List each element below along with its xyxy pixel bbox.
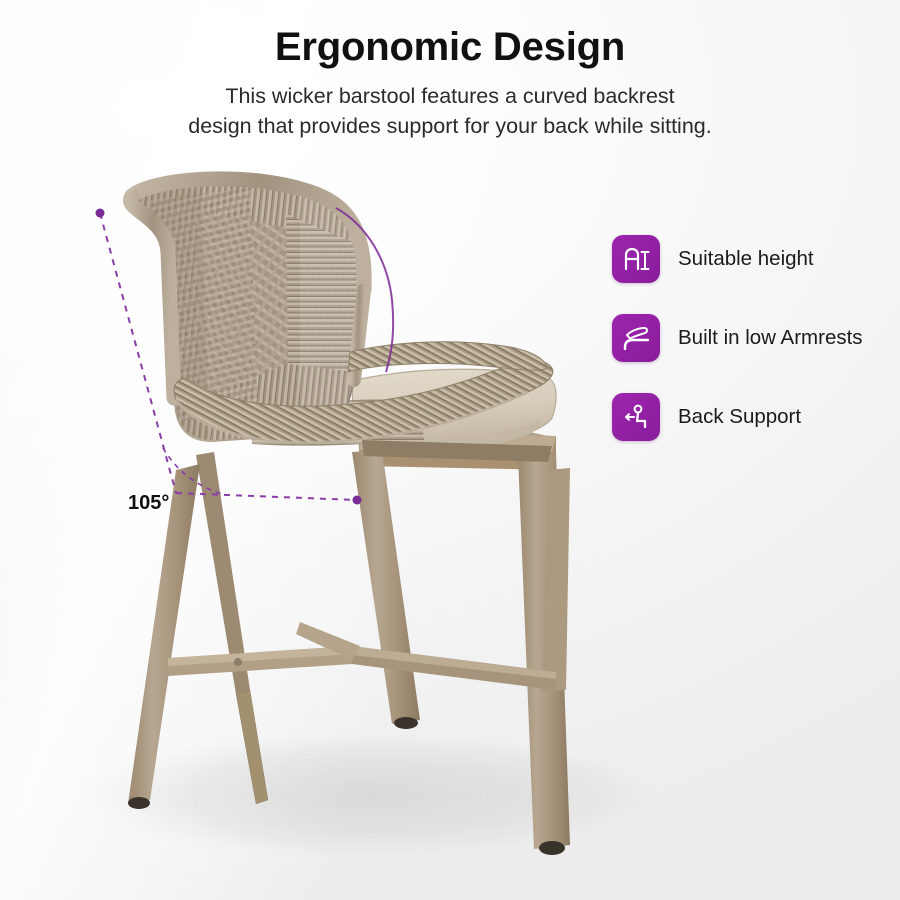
header: Ergonomic Design This wicker barstool fe… — [0, 0, 900, 141]
product-infographic-page: Ergonomic Design This wicker barstool fe… — [0, 0, 900, 900]
feature-label: Built in low Armrests — [678, 328, 863, 349]
feature-label: Back Support — [678, 407, 801, 428]
page-title: Ergonomic Design — [0, 0, 900, 69]
seated-person-back-support-icon — [612, 393, 660, 441]
subtitle-line-2: design that provides support for your ba… — [188, 114, 711, 138]
angle-label: 105° — [128, 492, 169, 515]
feature-item-back-support[interactable]: Back Support — [612, 389, 900, 445]
feature-item-built-in-low-armrests[interactable]: Built in low Armrests — [612, 310, 900, 366]
page-subtitle: This wicker barstool features a curved b… — [0, 69, 900, 141]
feature-item-suitable-height[interactable]: Suitable height — [612, 231, 900, 287]
feature-list: Suitable height Built in low Armrests — [612, 231, 900, 468]
subtitle-line-1: This wicker barstool features a curved b… — [225, 84, 674, 108]
arm-on-armrest-icon — [612, 314, 660, 362]
chair-height-measure-icon — [612, 235, 660, 283]
feature-label: Suitable height — [678, 249, 814, 270]
